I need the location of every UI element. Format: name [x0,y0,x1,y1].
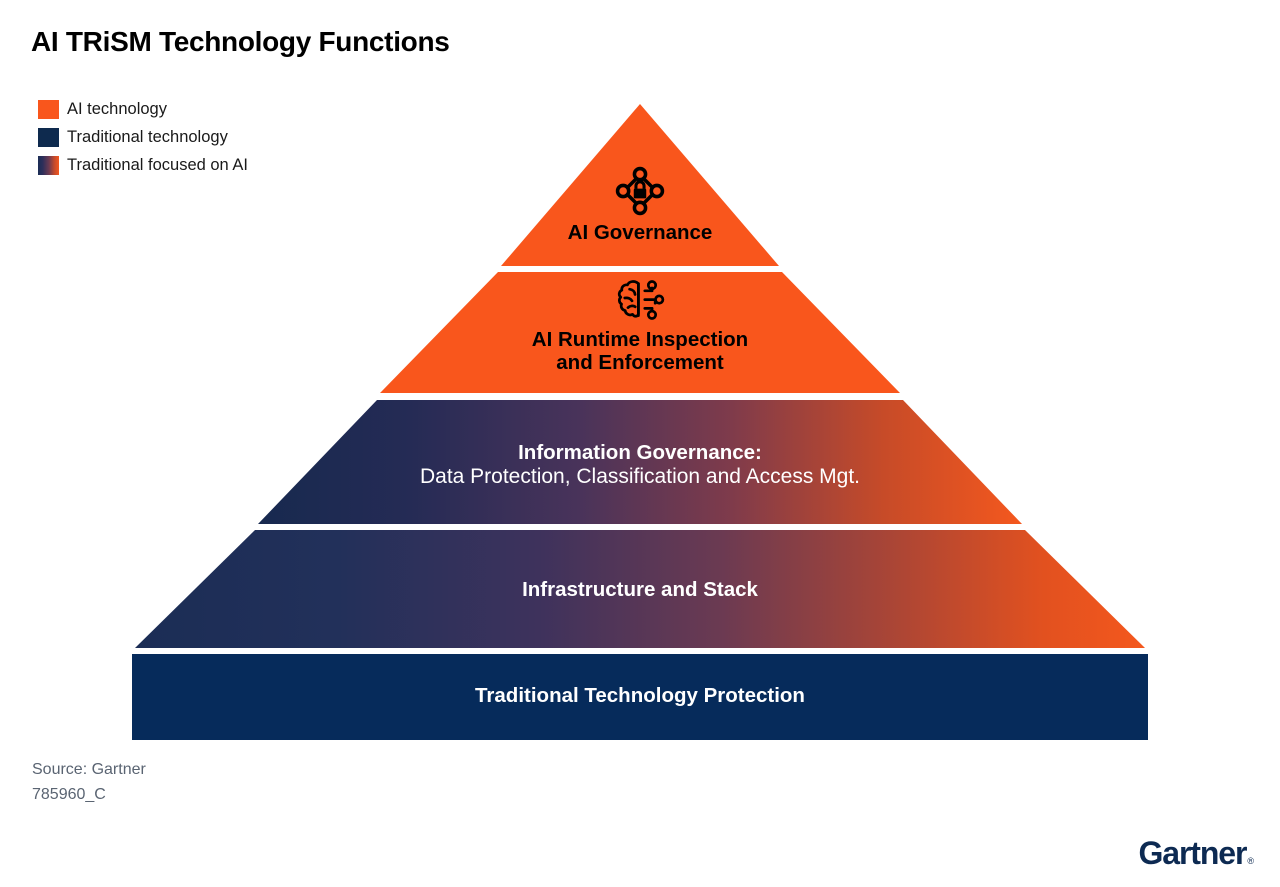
legend-label: Traditional focused on AI [67,157,248,174]
footer: Source: Gartner 785960_C [32,758,146,808]
circuit-node-2-icon [656,296,663,303]
pyramid-tier-3-label: Information Governance: Data Protection,… [0,442,1280,488]
circuit-node-1-icon [648,282,655,289]
pyramid-tier-5-shape[interactable] [132,654,1148,740]
gartner-wordmark: Gartner [1138,837,1246,869]
pyramid-tier-3-shape[interactable] [258,400,1022,524]
tier-3-line-2: Data Protection, Classification and Acce… [0,465,1280,489]
legend-item-ai-technology: AI technology [38,98,248,120]
pyramid-tier-5-label: Traditional Technology Protection [0,685,1280,708]
legend: AI technology Traditional technology Tra… [38,98,248,176]
tier-2-icon-wrap [0,278,1280,326]
tier-5-line-1: Traditional Technology Protection [0,685,1280,708]
document-id: 785960_C [32,783,146,808]
legend-label: AI technology [67,101,167,118]
lock-icon [634,182,646,199]
tier-4-line-1: Infrastructure and Stack [0,579,1280,602]
legend-swatch-solid-orange-icon [38,100,59,119]
legend-swatch-gradient-icon [38,156,59,175]
network-node-left-icon [618,185,629,196]
pyramid-tier-4-shape[interactable] [135,530,1145,648]
tier-2-line-1: AI Runtime Inspection [0,329,1280,352]
pyramid-tier-1-shape[interactable] [501,104,779,266]
legend-item-traditional-focused-on-ai: Traditional focused on AI [38,154,248,176]
source-text: Source: Gartner [32,758,146,783]
ai-brain-circuit-icon [612,278,668,326]
legend-swatch-solid-navy-icon [38,128,59,147]
network-node-right-icon [651,185,662,196]
circuit-node-3-icon [648,311,655,318]
tier-3-line-1: Information Governance: [0,442,1280,465]
network-node-top-icon [634,169,645,180]
pyramid-tier-2-label: AI Runtime Inspection and Enforcement [0,329,1280,375]
network-lock-icon [613,164,667,218]
legend-label: Traditional technology [67,129,228,146]
network-node-bottom-icon [634,202,645,213]
page-title: AI TRiSM Technology Functions [31,26,450,58]
registered-trademark-icon: ® [1247,857,1254,866]
pyramid-tier-2-shape[interactable] [380,272,900,393]
pyramid-tier-1-label: AI Governance [0,222,1280,245]
gartner-logo: Gartner ® [1138,837,1254,869]
pyramid-tier-4-label: Infrastructure and Stack [0,579,1280,602]
tier-1-line-1: AI Governance [0,222,1280,245]
legend-item-traditional-technology: Traditional technology [38,126,248,148]
tier-2-line-2: and Enforcement [0,352,1280,375]
